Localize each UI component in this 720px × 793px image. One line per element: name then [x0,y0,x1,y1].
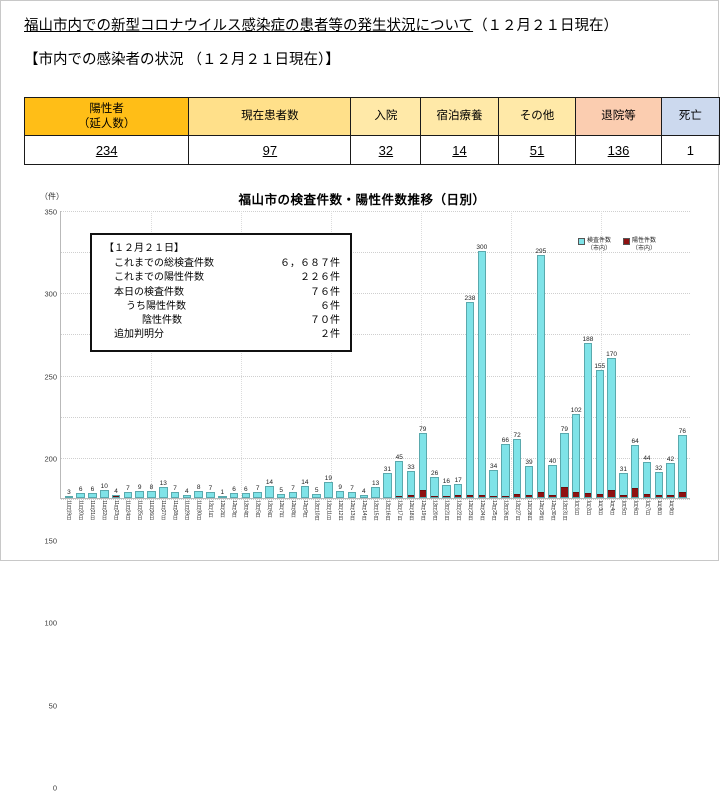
chart-bar-value-label: 188 [583,336,594,343]
x-axis-label-slot: 12月12日 [334,500,346,546]
chart-bar: 7 [253,492,261,498]
chart-bar-value-label: 9 [338,484,342,491]
x-axis-label-slot: 11月22日 [97,500,109,546]
chart-bar-value-label: 7 [256,485,260,492]
info-box-row: これまでの総検査件数６，６８７件 [104,257,340,271]
x-axis-tick-label: 11月26日 [148,500,153,546]
chart-bar-value-label: 76 [679,428,686,435]
chart-bar-positive-segment [608,490,614,497]
x-axis-label-slot: 12月17日 [393,500,405,546]
chart-bar-positive-segment [597,494,603,497]
chart-x-axis-labels: 11月19日11月20日11月21日11月22日11月23日11月24日11月2… [60,500,690,546]
chart-bar-slot: 4 [358,211,370,498]
chart-bar: 14 [301,486,309,498]
x-axis-tick-label: 1月2日 [585,500,590,546]
summary-value-cell: 234 [25,136,189,165]
chart-bar-value-label: 7 [209,485,213,492]
x-axis-tick-label: 1月9日 [668,500,673,546]
chart-bar: 170 [607,358,615,498]
chart-bar-value-label: 66 [502,437,509,444]
x-axis-tick-label: 12月30日 [550,500,555,546]
x-axis-label-slot: 1月8日 [653,500,665,546]
chart-bar-value-label: 3 [67,489,71,496]
chart-bar-value-label: 1 [220,489,224,496]
chart-bar: 13 [371,487,379,498]
chart-bar-value-label: 238 [465,295,476,302]
summary-header-label: 陽性者 [89,103,124,115]
chart-bar-value-label: 45 [396,454,403,461]
chart-bar-positive-segment [113,496,119,497]
x-axis-label-slot: 12月28日 [523,500,535,546]
x-axis-tick-label: 12月19日 [420,500,425,546]
chart-bar-positive-segment [549,495,555,497]
chart-bar: 14 [265,486,273,498]
summary-header-cell: 宿泊療養 [421,98,499,136]
chart-bar: 32 [655,472,663,498]
x-axis-tick-label: 11月25日 [136,500,141,546]
chart-bar-slot: 170 [606,211,618,498]
page-title-main: 福山市内での新型コロナウイルス感染症の患者等の発生状況について [24,18,473,34]
chart-bar-slot: 238 [464,211,476,498]
chart-bar: 10 [100,490,108,498]
summary-header-cell: 死亡 [661,98,719,136]
chart-bar: 13 [159,487,167,498]
chart-bar-value-label: 44 [643,455,650,462]
chart-bar: 17 [454,484,462,498]
chart-bar-positive-segment [526,495,532,497]
x-axis-tick-label: 12月12日 [337,500,342,546]
x-axis-tick-label: 12月11日 [325,500,330,546]
x-axis-tick-label: 1月4日 [609,500,614,546]
x-axis-label-slot: 12月15日 [369,500,381,546]
chart-bar-value-label: 170 [606,351,617,358]
info-box-row-label: これまでの陽性件数 [114,271,204,285]
x-axis-label-slot: 11月27日 [157,500,169,546]
chart-bar-positive-segment [620,495,626,497]
chart-bar-value-label: 32 [655,465,662,472]
summary-value-text: 234 [96,143,118,158]
chart-bar-value-label: 19 [325,475,332,482]
x-axis-label-slot: 12月18日 [405,500,417,546]
chart-bar: 5 [277,494,285,498]
chart-bar-value-label: 6 [91,486,95,493]
x-axis-tick-label: 12月6日 [266,500,271,546]
x-axis-tick-label: 12月7日 [278,500,283,546]
x-axis-tick-label: 11月23日 [113,500,118,546]
x-axis-tick-label: 12月13日 [349,500,354,546]
info-box-rows: これまでの総検査件数６，６８７件これまでの陽性件数２２６件本日の検査件数７６件う… [104,257,340,342]
x-axis-label-slot: 11月23日 [109,500,121,546]
x-axis-tick-label: 12月1日 [207,500,212,546]
chart-bar: 4 [360,495,368,498]
chart-bar-value-label: 79 [419,426,426,433]
x-axis-label-slot: 1月4日 [605,500,617,546]
y-axis-tick-label: 0 [53,784,57,793]
chart-bar-value-label: 7 [173,485,177,492]
chart-bar: 72 [513,439,521,498]
chart-bar-positive-segment [679,492,685,497]
chart-bar: 238 [466,302,474,498]
summary-header-cell: 退院等 [576,98,661,136]
chart-bar-slot: 79 [558,211,570,498]
summary-value-cell: 136 [576,136,661,165]
chart-bar: 6 [88,493,96,498]
chart-bar-value-label: 7 [126,485,130,492]
x-axis-tick-label: 12月8日 [290,500,295,546]
info-box-heading: 【１２月２１日】 [104,242,340,256]
chart-bar: 5 [312,494,320,498]
summary-value-cell: 97 [189,136,351,165]
x-axis-tick-label: 1月8日 [656,500,661,546]
info-box-row-value: ７６件 [310,286,340,300]
chart-legend: 検査件数 （市内） 陽性件数 （市内） [578,237,656,253]
x-axis-tick-label: 1月1日 [573,500,578,546]
summary-value-cell: 1 [661,136,719,165]
y-axis-tick-label: 50 [49,701,57,710]
chart-bar: 76 [678,435,686,498]
chart-bar-value-label: 14 [301,479,308,486]
chart-bar-slot: 6 [75,211,87,498]
chart-bar-slot: 295 [535,211,547,498]
x-axis-label-slot: 11月29日 [180,500,192,546]
summary-value-text: 1 [687,143,694,158]
info-box-row: 本日の検査件数７６件 [104,286,340,300]
summary-header-sublabel: （延人数） [78,118,136,130]
info-box-row-label: これまでの総検査件数 [114,257,214,271]
x-axis-label-slot: 12月7日 [275,500,287,546]
x-axis-tick-label: 11月19日 [65,500,70,546]
x-axis-tick-label: 12月20日 [431,500,436,546]
y-axis-tick-label: 100 [44,619,57,628]
y-axis-tick-label: 250 [44,372,57,381]
x-axis-label-slot: 11月25日 [133,500,145,546]
chart-bar-positive-segment [455,495,461,497]
x-axis-tick-label: 11月20日 [77,500,82,546]
chart-bar: 300 [478,251,486,498]
summary-header-cell: 現在患者数 [189,98,351,136]
x-axis-label-slot: 11月19日 [62,500,74,546]
x-axis-tick-label: 1月3日 [597,500,602,546]
y-axis-tick-label: 200 [44,454,57,463]
chart-bar-value-label: 5 [279,487,283,494]
chart-bar: 7 [124,492,132,498]
chart-bar-slot: 31 [382,211,394,498]
chart-bar-slot: 39 [523,211,535,498]
x-axis-label-slot: 12月13日 [346,500,358,546]
x-axis-tick-label: 11月28日 [172,500,177,546]
chart-bar-slot: 45 [393,211,405,498]
x-axis-tick-label: 11月22日 [101,500,106,546]
chart-bar: 45 [395,461,403,498]
chart-bar: 7 [348,492,356,498]
chart-bar: 8 [147,491,155,498]
x-axis-label-slot: 12月3日 [227,500,239,546]
chart-bar: 39 [525,466,533,498]
chart-bar-value-label: 13 [372,480,379,487]
chart-bar-value-label: 26 [431,470,438,477]
legend-label: 陽性件数 [632,238,656,244]
chart-bar-value-label: 9 [138,484,142,491]
chart-bar-slot: 17 [452,211,464,498]
chart-bar-positive-segment [667,495,673,497]
x-axis-label-slot: 11月30日 [192,500,204,546]
chart-bar-value-label: 7 [291,485,295,492]
chart-bar-positive-segment [656,495,662,497]
chart-bar-slot: 155 [594,211,606,498]
info-box-row-label: 追加判明分 [114,328,164,342]
summary-header-cell: 入院 [351,98,421,136]
y-axis-tick-label: 150 [44,537,57,546]
chart-bar-positive-segment [632,488,638,497]
info-box-row-label: 陰性件数 [142,314,182,328]
info-box: 【１２月２１日】 これまでの総検査件数６，６８７件これまでの陽性件数２２６件本日… [90,233,352,352]
x-axis-label-slot: 12月22日 [452,500,464,546]
x-axis-tick-label: 12月15日 [372,500,377,546]
chart-bar-value-label: 155 [594,363,605,370]
chart-bar: 26 [430,477,438,498]
summary-value-text: 97 [263,143,277,158]
chart-bar: 6 [230,493,238,498]
x-axis-tick-label: 11月27日 [160,500,165,546]
summary-header-cell: その他 [498,98,576,136]
chart-bar: 6 [76,493,84,498]
chart-bar-positive-segment [420,490,426,497]
chart-bar-value-label: 7 [350,485,354,492]
chart-bar-slot: 16 [441,211,453,498]
chart-bar-positive-segment [538,492,544,497]
chart-bar-positive-segment [396,496,402,498]
x-axis-label-slot: 11月21日 [86,500,98,546]
x-axis-label-slot: 1月1日 [570,500,582,546]
chart-bar: 79 [419,433,427,498]
chart-bar: 7 [289,492,297,498]
x-axis-tick-label: 1月7日 [644,500,649,546]
x-axis-label-slot: 12月31日 [558,500,570,546]
info-box-row-label: うち陽性件数 [126,300,186,314]
chart-bar: 295 [537,255,545,498]
chart-bar-value-label: 72 [514,432,521,439]
info-box-row-value: ７０件 [310,314,340,328]
chart-bar-slot: 79 [417,211,429,498]
chart-bar-value-label: 8 [150,484,154,491]
chart-container: 福山市の検査件数・陽性件数推移（日別） （件） 0501001502002503… [22,185,702,555]
info-box-row-label: 本日の検査件数 [114,286,184,300]
chart-bar: 188 [584,343,592,498]
chart-bar-value-label: 17 [455,477,462,484]
chart-bar-slot: 32 [653,211,665,498]
chart-bar-value-label: 4 [114,488,118,495]
x-axis-tick-label: 12月31日 [561,500,566,546]
chart-bar-value-label: 10 [101,483,108,490]
chart-bar-value-label: 42 [667,456,674,463]
summary-header-cell: 陽性者 （延人数） [25,98,189,136]
chart-bar-value-label: 34 [490,463,497,470]
x-axis-label-slot: 12月6日 [263,500,275,546]
chart-bar-slot: 76 [676,211,688,498]
x-axis-label-slot: 11月24日 [121,500,133,546]
x-axis-tick-label: 1月6日 [632,500,637,546]
chart-bar-slot: 44 [641,211,653,498]
x-axis-tick-label: 12月17日 [396,500,401,546]
info-box-row: これまでの陽性件数２２６件 [104,271,340,285]
x-axis-tick-label: 12月16日 [384,500,389,546]
chart-bar-positive-segment [585,493,591,497]
summary-value-text: 136 [608,143,630,158]
x-axis-label-slot: 12月8日 [286,500,298,546]
chart-bar-positive-segment [431,496,437,498]
chart-bar-value-label: 40 [549,458,556,465]
x-axis-label-slot: 1月9日 [664,500,676,546]
x-axis-tick-label: 1月5日 [620,500,625,546]
chart-bar: 40 [548,465,556,498]
chart-bar-slot: 102 [570,211,582,498]
page-subtitle: 【市内での感染者の状況 （１２月２１日現在）】 [24,48,340,69]
x-axis-label-slot: 12月19日 [416,500,428,546]
x-axis-tick-label: 11月21日 [89,500,94,546]
info-box-row: 陰性件数７０件 [104,314,340,328]
x-axis-tick-label: 12月27日 [514,500,519,546]
x-axis-tick-label: 11月30日 [195,500,200,546]
x-axis-label-slot: 1月5日 [617,500,629,546]
chart-bar-value-label: 39 [525,459,532,466]
x-axis-label-slot: 12月9日 [298,500,310,546]
chart-bar-slot: 31 [617,211,629,498]
chart-bar-value-label: 300 [476,244,487,251]
chart-bar: 3 [65,496,73,498]
info-box-row-value: ２２６件 [300,271,340,285]
x-axis-tick-label: 12月22日 [455,500,460,546]
x-axis-tick-label: 12月14日 [361,500,366,546]
chart-bar-value-label: 16 [443,478,450,485]
chart-bar: 155 [596,370,604,498]
x-axis-label-slot: 12月10日 [310,500,322,546]
chart-bar: 7 [171,492,179,498]
chart-bar: 34 [489,470,497,498]
chart-bar-positive-segment [467,495,473,497]
chart-bar-positive-segment [561,487,567,497]
chart-bar-value-label: 8 [197,484,201,491]
x-axis-label-slot: 12月4日 [239,500,251,546]
chart-bar-slot: 34 [488,211,500,498]
chart-bar: 102 [572,414,580,498]
x-axis-label-slot: 1月2日 [582,500,594,546]
x-axis-label-slot: 12月26日 [499,500,511,546]
page-title-suffix: （１２月２１日現在） [473,18,618,34]
chart-bar-slot: 42 [665,211,677,498]
chart-bar-value-label: 33 [407,464,414,471]
x-axis-label-slot: 11月26日 [145,500,157,546]
x-axis-label-slot: 12月2日 [216,500,228,546]
x-axis-label-slot: 12月16日 [381,500,393,546]
chart-bar-value-label: 79 [561,426,568,433]
chart-bar-slot: 188 [582,211,594,498]
chart-bar: 31 [619,473,627,499]
x-axis-tick-label: 12月9日 [302,500,307,546]
x-axis-tick-label: 12月5日 [254,500,259,546]
x-axis-tick-label: 12月2日 [219,500,224,546]
chart-bar-positive-segment [408,495,414,497]
summary-value-text: 14 [452,143,466,158]
x-axis-tick-label: 11月29日 [183,500,188,546]
chart-bar-positive-segment [490,496,496,498]
chart-bar-slot: 64 [629,211,641,498]
x-axis-tick-label: 12月29日 [538,500,543,546]
legend-item-inspections: 検査件数 （市内） [578,237,611,253]
chart-title: 福山市の検査件数・陽性件数推移（日別） [22,189,702,208]
summary-table: 陽性者 （延人数） 現在患者数 入院 宿泊療養 その他 退院等 死亡 234 9… [24,97,720,165]
chart-bar: 64 [631,445,639,498]
x-axis-tick-label: 12月24日 [479,500,484,546]
chart-bar-value-label: 13 [160,480,167,487]
x-axis-tick-label: 12月3日 [231,500,236,546]
x-axis-label-slot: 1月6日 [629,500,641,546]
chart-bar: 1 [218,496,226,498]
chart-bar: 44 [643,462,651,498]
chart-bar: 66 [501,444,509,498]
chart-bar: 33 [407,471,415,498]
x-axis-label-slot: 12月20日 [428,500,440,546]
x-axis-label-slot [676,500,688,546]
x-axis-tick-label: 12月23日 [467,500,472,546]
summary-value-text: 32 [379,143,393,158]
chart-bar: 7 [206,492,214,498]
chart-bar-slot: 3 [63,211,75,498]
chart-bar-value-label: 4 [362,488,366,495]
chart-bar: 79 [560,433,568,498]
chart-bar: 9 [135,491,143,498]
legend-sublabel: （市内） [587,245,611,253]
chart-bar-slot: 13 [370,211,382,498]
y-axis-unit-label: （件） [40,191,64,202]
x-axis-label-slot: 1月3日 [594,500,606,546]
x-axis-tick-label: 12月25日 [491,500,496,546]
x-axis-label-slot: 12月5日 [251,500,263,546]
chart-bar: 6 [242,493,250,498]
summary-value-cell: 51 [498,136,576,165]
chart-bar-value-label: 14 [266,479,273,486]
chart-bar-value-label: 295 [535,248,546,255]
x-axis-label-slot: 12月21日 [440,500,452,546]
x-axis-tick-label: 11月24日 [124,500,129,546]
legend-swatch-icon [578,238,585,245]
info-box-row-value: ６件 [320,300,340,314]
info-box-row-value: ２件 [320,328,340,342]
chart-bar-slot: 40 [547,211,559,498]
summary-value-text: 51 [530,143,544,158]
x-axis-tick-label: 12月26日 [502,500,507,546]
chart-bar-positive-segment [644,494,650,497]
y-axis-tick-label: 300 [44,290,57,299]
x-axis-tick-label: 12月21日 [443,500,448,546]
legend-label: 検査件数 [587,238,611,244]
x-axis-label-slot: 12月27日 [511,500,523,546]
chart-bar: 19 [324,482,332,498]
chart-bar-value-label: 64 [632,438,639,445]
chart-bar-value-label: 31 [384,466,391,473]
chart-bar-value-label: 31 [620,466,627,473]
page-title: 福山市内での新型コロナウイルス感染症の患者等の発生状況について（１２月２１日現在… [24,14,618,35]
info-box-row: うち陽性件数６件 [104,300,340,314]
x-axis-label-slot: 11月20日 [74,500,86,546]
chart-bar-positive-segment [514,494,520,497]
legend-item-positives: 陽性件数 （市内） [623,237,656,253]
chart-bar-positive-segment [479,495,485,497]
x-axis-label-slot: 12月14日 [357,500,369,546]
x-axis-label-slot: 12月25日 [487,500,499,546]
x-axis-label-slot: 12月11日 [322,500,334,546]
chart-bar-value-label: 6 [79,486,83,493]
legend-sublabel: （市内） [632,245,656,253]
